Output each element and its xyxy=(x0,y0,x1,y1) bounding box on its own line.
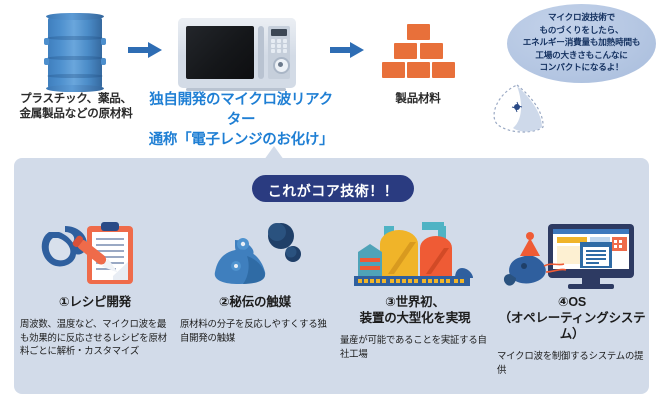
core-column-catalyst-title: ②秘伝の触媒 xyxy=(180,294,330,310)
bubble-line-2: ものづくりをしたら、 xyxy=(507,24,656,37)
microwave-icon xyxy=(178,18,296,88)
core-column-factory-title: ③世界初、 装置の大型化を実現 xyxy=(340,294,490,326)
arrow-right-icon xyxy=(330,42,364,58)
reactor-label: 独自開発のマイクロ波リアクター 通称「電子レンジのお化け」 xyxy=(143,90,339,150)
bubble-line-1: マイクロ波技術で xyxy=(507,11,656,24)
bubble-line-4: 工場の大きさもこんなに xyxy=(507,49,656,62)
speech-bubble-tail xyxy=(486,83,548,135)
infographic-root: プラスチック、薬品、 金属製品などの原材料 独自開発のマイクロ波リアクター 通称… xyxy=(0,0,663,401)
core-column-os: ④OS （オペレーティングシステム） マイクロ波を制御するシステムの提供 xyxy=(497,222,647,376)
core-column-factory-title-line1: ③世界初、 xyxy=(340,294,490,310)
core-column-factory: ③世界初、 装置の大型化を実現 量産が可能であることを実証する自社工場 xyxy=(340,222,490,360)
core-column-os-title-line1: ④OS xyxy=(497,294,647,310)
speech-bubble-text: マイクロ波技術で ものづくりをしたら、 エネルギー消費量も加熱時間も 工場の大き… xyxy=(507,11,656,74)
bricks-icon xyxy=(382,24,454,82)
raw-materials-label-line1: プラスチック、薬品、 xyxy=(2,92,150,107)
monitor-os-icon xyxy=(497,222,647,290)
core-technology-banner-label: これがコア技術！！ xyxy=(252,181,414,201)
product-materials-label: 製品材料 xyxy=(382,92,454,107)
factory-icon xyxy=(340,222,490,290)
core-column-os-description: マイクロ波を制御するシステムの提供 xyxy=(497,349,647,376)
core-column-factory-title-line2: 装置の大型化を実現 xyxy=(340,310,490,326)
core-column-catalyst: ②秘伝の触媒 原材料の分子を反応しやすくする独自開発の触媒 xyxy=(180,222,330,344)
core-column-os-title-line2: （オペレーティングシステム） xyxy=(497,310,647,342)
raw-materials-label-line2: 金属製品などの原材料 xyxy=(2,107,150,122)
clipboard-recipe-icon xyxy=(20,222,170,290)
core-column-os-title: ④OS （オペレーティングシステム） xyxy=(497,294,647,342)
core-column-recipe-title: ①レシピ開発 xyxy=(20,294,170,310)
arrow-right-icon xyxy=(128,42,162,58)
bubble-line-5: コンパクトになるよ！ xyxy=(507,61,656,74)
reactor-label-line2: 通称「電子レンジのお化け」 xyxy=(143,130,339,150)
catalyst-molecule-icon xyxy=(180,222,330,290)
core-column-factory-description: 量産が可能であることを実証する自社工場 xyxy=(340,333,490,360)
reactor-label-line1: 独自開発のマイクロ波リアクター xyxy=(143,90,339,130)
raw-materials-label: プラスチック、薬品、 金属製品などの原材料 xyxy=(2,92,150,122)
core-column-recipe-description: 周波数、温度など、マイクロ波を最も効果的に反応させるレシピを原材料ごとに解析・カ… xyxy=(20,317,170,358)
core-column-recipe: ①レシピ開発 周波数、温度など、マイクロ波を最も効果的に反応させるレシピを原材料… xyxy=(20,222,170,358)
oil-barrel-icon xyxy=(42,12,108,92)
bubble-line-3: エネルギー消費量も加熱時間も xyxy=(507,36,656,49)
core-column-catalyst-description: 原材料の分子を反応しやすくする独自開発の触媒 xyxy=(180,317,330,344)
